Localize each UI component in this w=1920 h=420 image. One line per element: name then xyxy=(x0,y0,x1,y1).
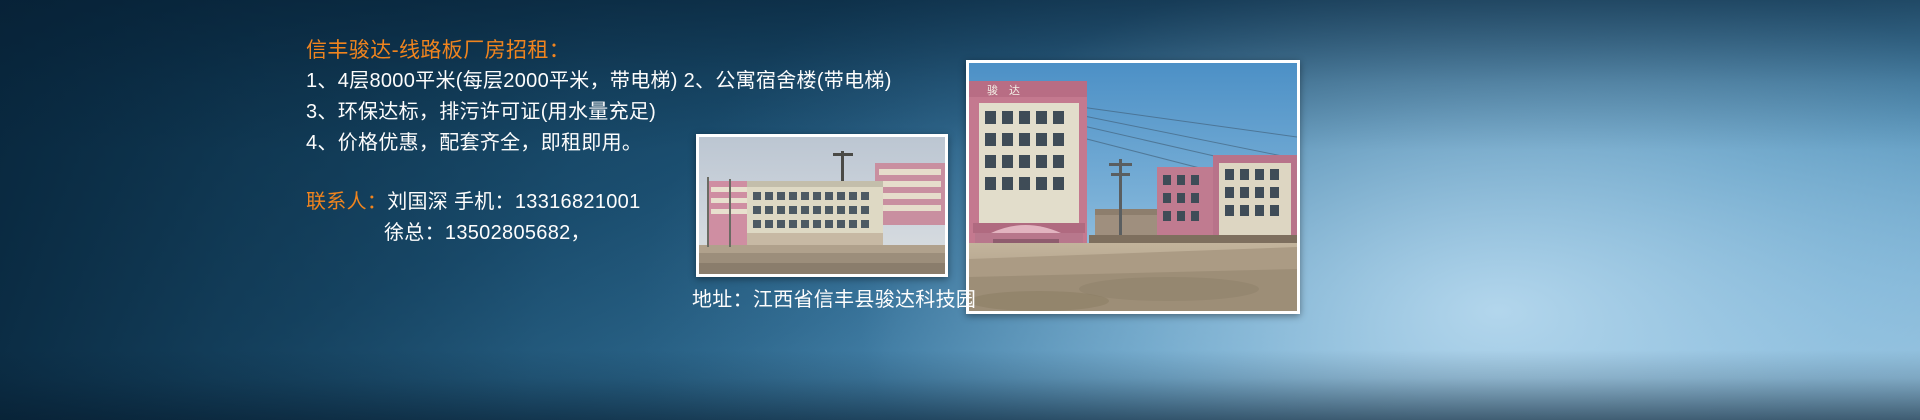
factory-building-photo xyxy=(696,134,948,277)
photo-sign-text: 骏 达 xyxy=(987,83,1020,97)
address-caption: 地址：江西省信丰县骏达科技园 xyxy=(692,283,976,312)
contact-label: 联系人： xyxy=(306,191,387,213)
factory-gate-photo: 骏 达 xyxy=(966,60,1300,314)
feature-line-1: 1、4层8000平米(每层2000平米，带电梯) 2、公寓宿舍楼(带电梯) xyxy=(306,66,1006,97)
feature-line-2: 3、环保达标，排污许可证(用水量充足) xyxy=(306,97,1006,128)
contact-person-2: 徐总：13502805682， xyxy=(384,222,591,244)
rental-advertisement-banner: 信丰骏达-线路板厂房招租： 1、4层8000平米(每层2000平米，带电梯) 2… xyxy=(0,0,1920,420)
headline: 信丰骏达-线路板厂房招租： xyxy=(306,36,1006,66)
background-bottom-shade xyxy=(0,350,1920,420)
contact-person-1: 刘国深 手机：13316821001 xyxy=(387,191,640,213)
